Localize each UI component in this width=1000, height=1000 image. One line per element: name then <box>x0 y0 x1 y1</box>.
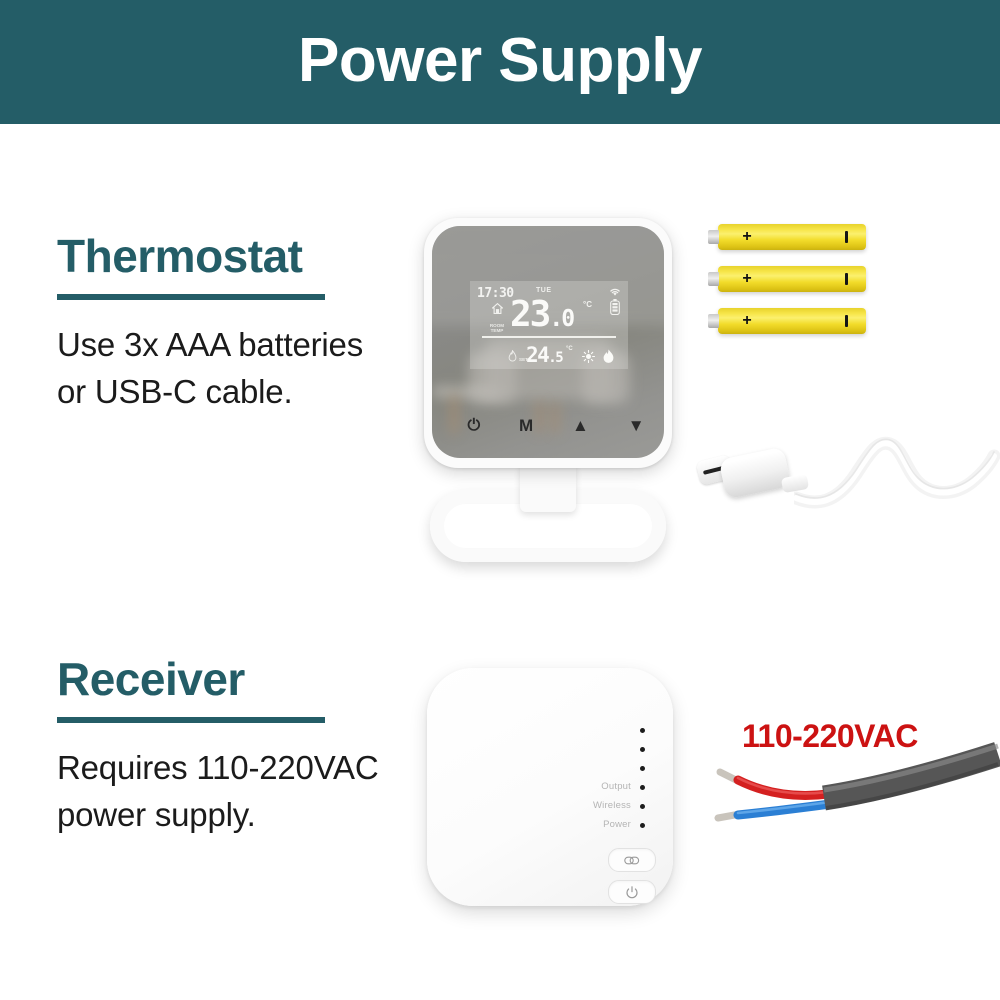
thermostat-button-row: ⏻ M ▲ ▼ <box>448 417 664 434</box>
thermostat-mode-button[interactable]: M <box>519 417 533 434</box>
section-body-thermostat: Use 3x AAA batteries or USB-C cable. <box>57 322 387 416</box>
lcd-current-temperature: 23.0 <box>510 297 573 333</box>
lcd-time: 17:30 <box>477 286 514 301</box>
led-indicator-wireless <box>640 804 645 809</box>
lcd-temp-decimal: .0 <box>549 306 573 332</box>
flame-icon <box>602 349 615 364</box>
page-title: Power Supply <box>298 30 702 92</box>
usb-cable-cord <box>794 426 1000 536</box>
thermostat-lcd-display: 17:30 TUE <box>470 281 628 369</box>
thermostat-device: 17:30 TUE <box>424 218 674 558</box>
section-body-receiver: Requires 110-220VAC power supply. <box>57 745 387 839</box>
infographic-page: Power Supply Thermostat Use 3x AAA batte… <box>0 0 1000 1000</box>
thermostat-stand-neck <box>520 462 576 512</box>
battery-plus-mark: + <box>740 314 754 328</box>
battery-terminal <box>708 230 719 244</box>
receiver-power-button[interactable] <box>608 880 656 904</box>
section-heading-thermostat: Thermostat <box>57 232 387 280</box>
lcd-bottom-row: SET 24.5 °C <box>470 341 628 369</box>
lcd-set-temperature: 24.5 <box>526 345 562 366</box>
section-thermostat: Thermostat Use 3x AAA batteries or USB-C… <box>57 232 387 416</box>
led-indicator <box>640 747 645 752</box>
lcd-temp-unit: °C <box>583 301 592 309</box>
led-indicator-output <box>640 785 645 790</box>
thermostat-up-button[interactable]: ▲ <box>572 417 589 434</box>
lcd-divider <box>482 336 616 338</box>
battery-stripe <box>845 315 848 327</box>
sun-icon <box>582 350 595 363</box>
link-icon <box>624 855 640 866</box>
mains-wire: 110-220VAC <box>706 720 1000 836</box>
led-indicator-power <box>640 823 645 828</box>
heading-underline <box>57 717 325 723</box>
battery-icon <box>610 299 620 315</box>
usb-c-cable <box>694 430 1000 540</box>
thermostat-mirror-glass: 17:30 TUE <box>432 226 664 458</box>
flame-small-icon <box>508 350 517 363</box>
battery-3: + <box>718 308 866 334</box>
thermostat-body: 17:30 TUE <box>424 218 672 468</box>
lcd-room-temp-label: ROOM TEMP <box>488 323 506 334</box>
led-indicator <box>640 728 645 733</box>
battery-plus-mark: + <box>740 230 754 244</box>
battery-2: + <box>718 266 866 292</box>
battery-terminal <box>708 272 719 286</box>
usb-c-connector-housing <box>719 447 792 500</box>
led-label-power: Power <box>603 820 631 830</box>
lcd-temp-integer: 23 <box>510 294 549 335</box>
voltage-label: 110-220VAC <box>742 720 918 752</box>
home-icon <box>492 303 503 314</box>
lcd-weekday: TUE <box>536 287 552 294</box>
thermostat-down-button[interactable]: ▼ <box>628 417 645 434</box>
aaa-batteries-group: + + + <box>706 224 866 340</box>
battery-plus-mark: + <box>740 272 754 286</box>
section-receiver: Receiver Requires 110-220VAC power suppl… <box>57 655 387 839</box>
led-label-output: Output <box>601 782 631 792</box>
led-indicator <box>640 766 645 771</box>
battery-terminal <box>708 314 719 328</box>
lcd-set-integer: 24 <box>526 343 548 367</box>
lcd-set-unit: °C <box>566 346 573 352</box>
section-heading-receiver: Receiver <box>57 655 387 703</box>
receiver-pair-button[interactable] <box>608 848 656 872</box>
battery-1: + <box>718 224 866 250</box>
led-label-wireless: Wireless <box>593 801 631 811</box>
receiver-device: Output Wireless Power <box>427 668 673 906</box>
power-icon <box>626 886 638 899</box>
battery-stripe <box>845 231 848 243</box>
thermostat-power-button[interactable]: ⏻ <box>467 418 480 434</box>
wifi-icon <box>608 286 622 297</box>
header-banner: Power Supply <box>0 0 1000 124</box>
lcd-set-decimal: .5 <box>548 350 562 366</box>
heading-underline <box>57 294 325 300</box>
battery-stripe <box>845 273 848 285</box>
